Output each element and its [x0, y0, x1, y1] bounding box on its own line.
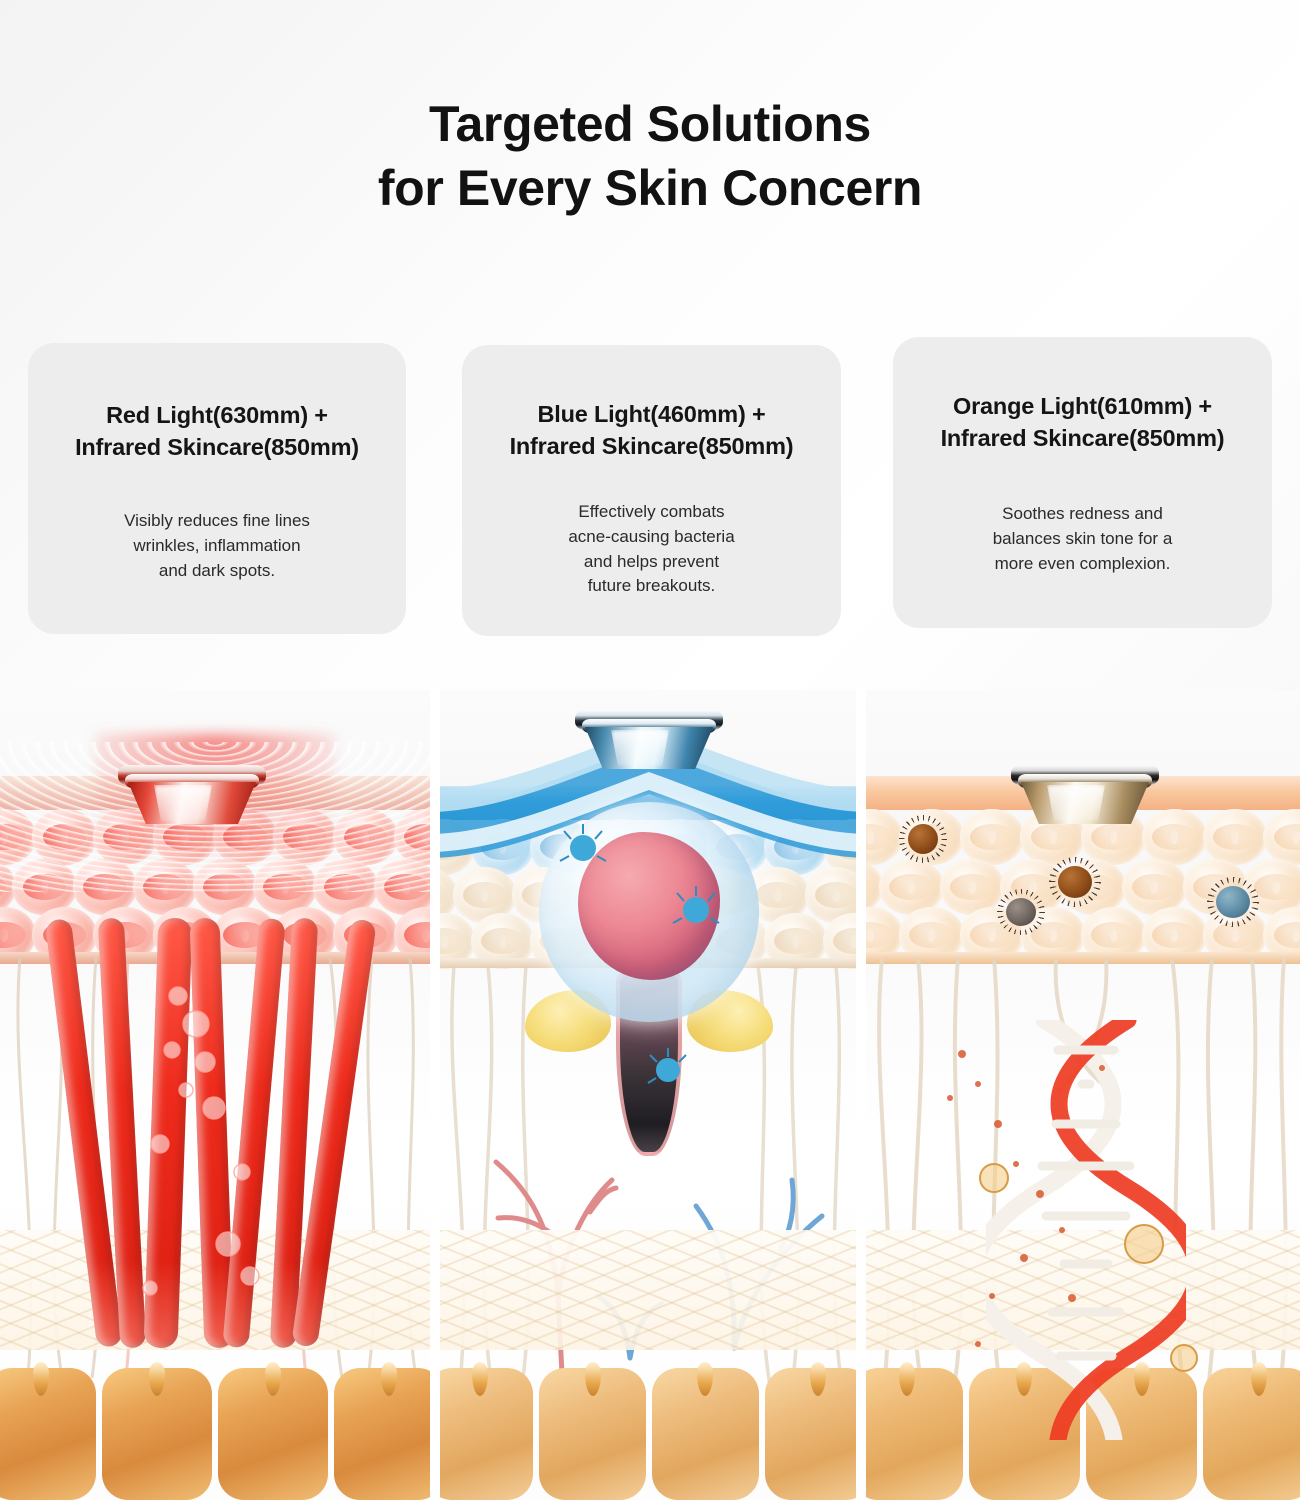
melanin-rays — [1049, 857, 1101, 907]
melanin-rays — [997, 889, 1045, 935]
card-title-blue-line-1: Blue Light(460mm) + — [538, 401, 766, 427]
pigment-spot-blue — [1216, 886, 1250, 918]
red-micro-bubbles — [0, 958, 430, 1378]
fat-cell — [0, 1368, 96, 1500]
device-gloss-highlight — [611, 730, 669, 766]
fat-cell — [652, 1368, 759, 1500]
page-title-line-2: for Every Skin Concern — [0, 156, 1300, 220]
skin-cell — [1203, 809, 1268, 865]
panel-divider-right — [856, 690, 866, 1500]
lipid-droplet — [472, 1362, 488, 1396]
blue-collagen-mesh — [440, 1230, 858, 1350]
panel-divider-left — [430, 690, 440, 1500]
card-body-blue-line-4: future breakouts. — [588, 576, 716, 595]
fat-cell — [102, 1368, 212, 1500]
fat-cell — [218, 1368, 328, 1500]
card-body-orange-line-2: balances skin tone for a — [993, 529, 1173, 548]
feature-card-red-light[interactable]: Red Light(630mm) + Infrared Skincare(850… — [28, 343, 406, 634]
orange-melanin-particles — [866, 958, 1300, 1388]
card-title-orange-line-1: Orange Light(610mm) + — [953, 393, 1212, 419]
panel-red-light-skin-cross-section — [0, 690, 430, 1500]
red-device-applicator-head — [118, 765, 266, 827]
acne-bacteria-cluster — [440, 790, 858, 1190]
card-title-orange-light: Orange Light(610mm) + Infrared Skincare(… — [941, 391, 1225, 454]
page-title-line-1: Targeted Solutions — [0, 92, 1300, 156]
card-body-orange-line-1: Soothes redness and — [1002, 504, 1163, 523]
panel-blue-light-skin-cross-section — [440, 690, 858, 1500]
card-body-red-line-1: Visibly reduces fine lines — [124, 511, 310, 530]
fat-cell — [440, 1368, 533, 1500]
gold-device-applicator-head — [1011, 765, 1159, 827]
feature-card-blue-light[interactable]: Blue Light(460mm) + Infrared Skincare(85… — [462, 345, 841, 636]
pigment-spot-brown-2 — [1058, 866, 1092, 898]
skin-cell — [1263, 809, 1300, 865]
fat-cell — [334, 1368, 430, 1500]
feature-card-row: Red Light(630mm) + Infrared Skincare(850… — [0, 337, 1300, 642]
feature-card-orange-light[interactable]: Orange Light(610mm) + Infrared Skincare(… — [893, 337, 1272, 628]
page-title: Targeted Solutions for Every Skin Concer… — [0, 92, 1300, 220]
card-title-red-line-2: Infrared Skincare(850mm) — [75, 434, 359, 460]
lipid-droplet — [810, 1362, 826, 1396]
card-body-red-line-2: wrinkles, inflammation — [133, 536, 300, 555]
lipid-droplet — [585, 1362, 601, 1396]
melanin-rays — [899, 815, 947, 863]
device-gloss-highlight — [1047, 785, 1105, 821]
illustration-panel-row — [0, 690, 1300, 1500]
card-body-red-line-3: and dark spots. — [159, 561, 275, 580]
card-body-blue-light: Effectively combats acne-causing bacteri… — [568, 500, 734, 599]
card-title-orange-line-2: Infrared Skincare(850mm) — [941, 425, 1225, 451]
gold-globule — [980, 1164, 1197, 1371]
card-body-blue-line-3: and helps prevent — [584, 552, 719, 571]
card-body-blue-line-1: Effectively combats — [578, 502, 724, 521]
card-title-blue-light: Blue Light(460mm) + Infrared Skincare(85… — [510, 399, 794, 462]
device-gloss-highlight — [154, 785, 212, 821]
page-header: Targeted Solutions for Every Skin Concer… — [0, 92, 1300, 220]
panel-orange-light-skin-cross-section — [866, 690, 1300, 1500]
blue-device-applicator-head — [575, 710, 723, 772]
card-body-red-light: Visibly reduces fine lines wrinkles, inf… — [124, 509, 310, 583]
pigment-spot-brown-1 — [908, 824, 938, 854]
card-body-blue-line-2: acne-causing bacteria — [568, 527, 734, 546]
fat-cell — [765, 1368, 858, 1500]
skin-cell — [866, 809, 903, 865]
card-title-blue-line-2: Infrared Skincare(850mm) — [510, 433, 794, 459]
infographic-page: Targeted Solutions for Every Skin Concer… — [0, 0, 1300, 1500]
melanin-rays — [1207, 877, 1259, 927]
blue-subcutaneous-fat-layer — [440, 1350, 858, 1500]
card-title-red-light: Red Light(630mm) + Infrared Skincare(850… — [75, 400, 359, 463]
pigment-spot-grey — [1006, 898, 1036, 926]
card-body-orange-line-3: more even complexion. — [995, 554, 1171, 573]
card-body-orange-light: Soothes redness and balances skin tone f… — [993, 502, 1173, 576]
card-title-red-line-1: Red Light(630mm) + — [106, 402, 328, 428]
fat-cell — [539, 1368, 646, 1500]
lipid-droplet — [697, 1362, 713, 1396]
